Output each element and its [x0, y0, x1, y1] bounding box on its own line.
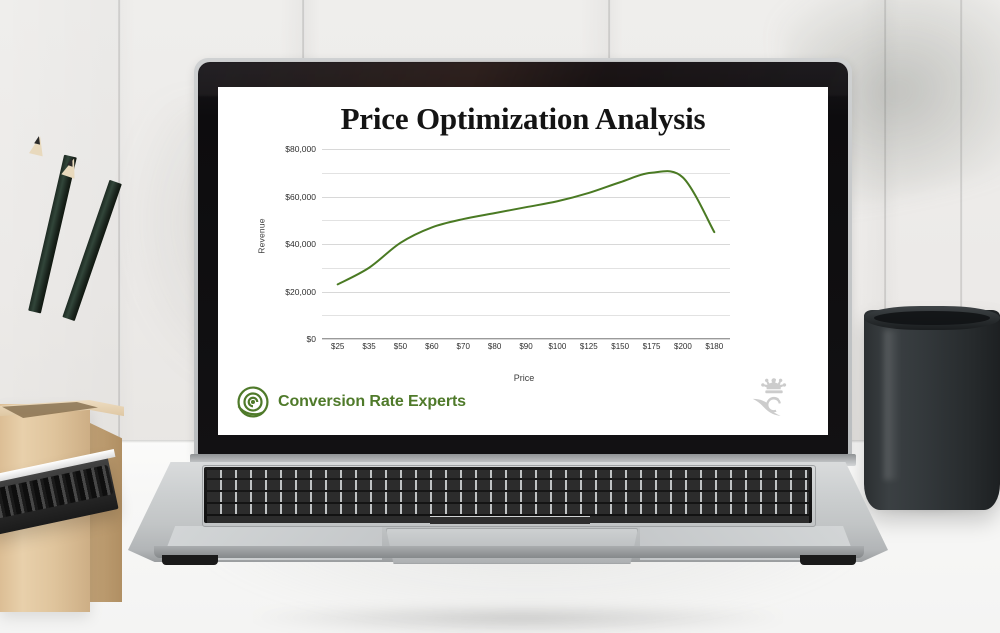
laptop-foot: [800, 555, 856, 565]
x-axis-tick-label: $70: [457, 342, 470, 351]
x-axis-title: Price: [254, 373, 794, 383]
page-title: Price Optimization Analysis: [218, 101, 828, 137]
x-axis-tick-label: $60: [425, 342, 438, 351]
x-axis-tick-label: $50: [394, 342, 407, 351]
laptop-keyboard[interactable]: [204, 467, 812, 523]
x-axis-tick-label: $180: [705, 342, 723, 351]
x-axis-tick-label: $100: [548, 342, 566, 351]
desk-scene-photo: Price Optimization Analysis Revenue $0$2…: [0, 0, 1000, 633]
chart-plot-area: [322, 149, 730, 339]
revenue-line-svg: [322, 149, 730, 339]
x-axis-tick-label: $35: [362, 342, 375, 351]
x-axis-tick-label: $80: [488, 342, 501, 351]
laptop-shadow: [248, 610, 788, 633]
y-axis-tick-label: $80,000: [256, 144, 316, 154]
mug-interior: [874, 311, 990, 325]
keyboard-row: [207, 480, 809, 490]
pencil: [28, 155, 77, 314]
y-axis-tick-label: $20,000: [256, 287, 316, 297]
brand-logo: Conversion Rate Experts: [236, 385, 466, 419]
chart-gridline: [322, 339, 730, 340]
brand-name: Conversion Rate Experts: [278, 393, 466, 411]
x-axis-tick-label: $125: [580, 342, 598, 351]
laptop-foot: [162, 555, 218, 565]
laptop: Price Optimization Analysis Revenue $0$2…: [128, 58, 888, 568]
x-axis-tick-label: $175: [643, 342, 661, 351]
y-axis-ticks: $0$20,000$40,000$60,000$80,000: [254, 149, 316, 339]
revenue-chart: Revenue $0$20,000$40,000$60,000$80,000 $…: [254, 149, 794, 369]
laptop-screen[interactable]: Price Optimization Analysis Revenue $0$2…: [218, 87, 828, 435]
queens-award-icon: [748, 373, 800, 425]
y-axis-tick-label: $40,000: [256, 239, 316, 249]
keyboard-row: [207, 470, 809, 478]
pencil: [62, 180, 121, 321]
spacebar-key[interactable]: [430, 516, 590, 524]
presentation-slide: Price Optimization Analysis Revenue $0$2…: [218, 87, 828, 435]
laptop-front-lip: [154, 546, 864, 558]
x-axis-ticks: $25$35$50$60$70$80$90$100$125$150$175$20…: [322, 342, 730, 356]
y-axis-tick-label: $60,000: [256, 192, 316, 202]
keyboard-row: [207, 504, 809, 514]
x-axis-tick-label: $200: [674, 342, 692, 351]
spiral-target-icon: [236, 385, 270, 419]
x-axis-tick-label: $25: [331, 342, 344, 351]
x-axis-tick-label: $150: [611, 342, 629, 351]
y-axis-tick-label: $0: [256, 334, 316, 344]
x-axis-tick-label: $90: [519, 342, 532, 351]
keyboard-row: [207, 492, 809, 502]
